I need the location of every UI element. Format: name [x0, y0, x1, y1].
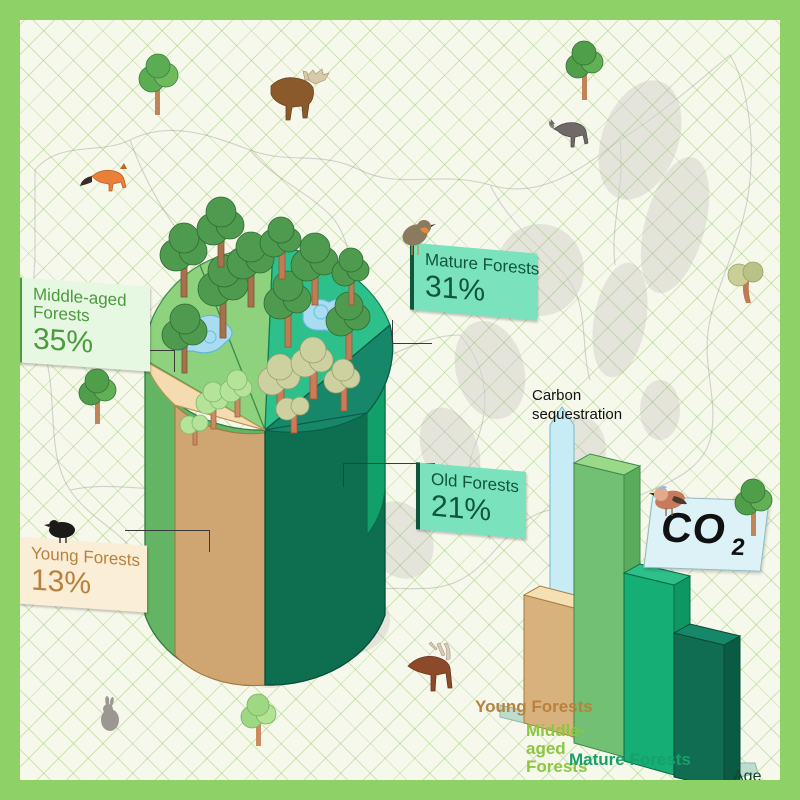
finch-icon — [649, 486, 687, 516]
wolf-icon — [549, 119, 588, 147]
rabbit-icon — [101, 696, 119, 731]
fox-icon — [80, 163, 127, 191]
moose-icon — [271, 69, 329, 120]
tree-icon-tl — [139, 54, 178, 115]
infographic-panel: Middle-aged Forests 35% Mature Forests 3… — [20, 20, 780, 780]
tree-icon-right-lower — [735, 479, 772, 536]
crow-icon — [44, 520, 75, 543]
tree-icon-bottom-light — [241, 694, 276, 746]
tree-icon-left-lower — [79, 369, 116, 424]
deer-icon — [408, 642, 452, 691]
infographic-canvas: Middle-aged Forests 35% Mature Forests 3… — [0, 0, 800, 800]
tree-icon-right-olive — [728, 262, 763, 303]
robin-icon — [399, 220, 436, 255]
tree-icon-tr — [566, 41, 603, 100]
